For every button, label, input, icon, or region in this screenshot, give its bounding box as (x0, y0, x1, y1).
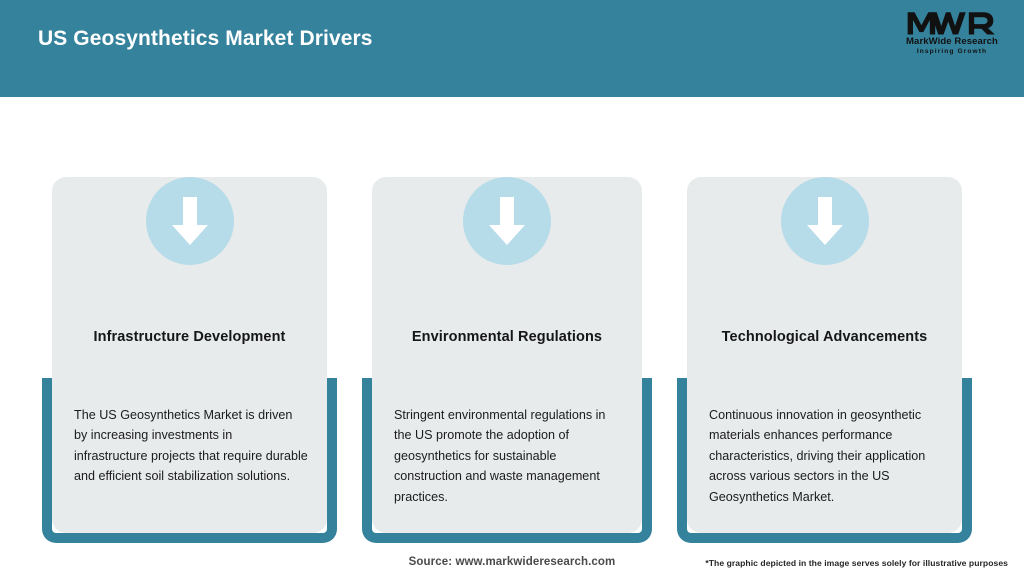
page-title: US Geosynthetics Market Drivers (38, 27, 373, 51)
logo-company-name: MarkWide Research (906, 37, 998, 47)
driver-card-1[interactable]: Infrastructure Development The US Geosyn… (42, 97, 337, 543)
card-title: Infrastructure Development (66, 329, 313, 345)
card-description: Stringent environmental regulations in t… (394, 405, 624, 507)
arrow-down-icon (781, 177, 869, 265)
card-title: Environmental Regulations (386, 329, 628, 345)
disclaimer-note: *The graphic depicted in the image serve… (705, 558, 1008, 568)
card-description: Continuous innovation in geosynthetic ma… (709, 405, 944, 507)
card-panel: Infrastructure Development The US Geosyn… (52, 177, 327, 533)
mwr-monogram-icon (905, 10, 999, 36)
slide-canvas: US Geosynthetics Market Drivers MarkWide… (0, 0, 1024, 576)
card-panel: Environmental Regulations Stringent envi… (372, 177, 642, 533)
card-title: Technological Advancements (701, 329, 948, 345)
driver-card-3[interactable]: Technological Advancements Continuous in… (677, 97, 972, 543)
header-bar: US Geosynthetics Market Drivers MarkWide… (0, 0, 1024, 97)
logo-tagline: Inspiring Growth (917, 49, 987, 56)
driver-cards-container: Infrastructure Development The US Geosyn… (0, 97, 1024, 537)
driver-card-2[interactable]: Environmental Regulations Stringent envi… (362, 97, 652, 543)
arrow-down-icon (146, 177, 234, 265)
arrow-down-icon (463, 177, 551, 265)
brand-logo: MarkWide Research Inspiring Growth (898, 10, 1006, 62)
card-panel: Technological Advancements Continuous in… (687, 177, 962, 533)
card-description: The US Geosynthetics Market is driven by… (74, 405, 309, 487)
